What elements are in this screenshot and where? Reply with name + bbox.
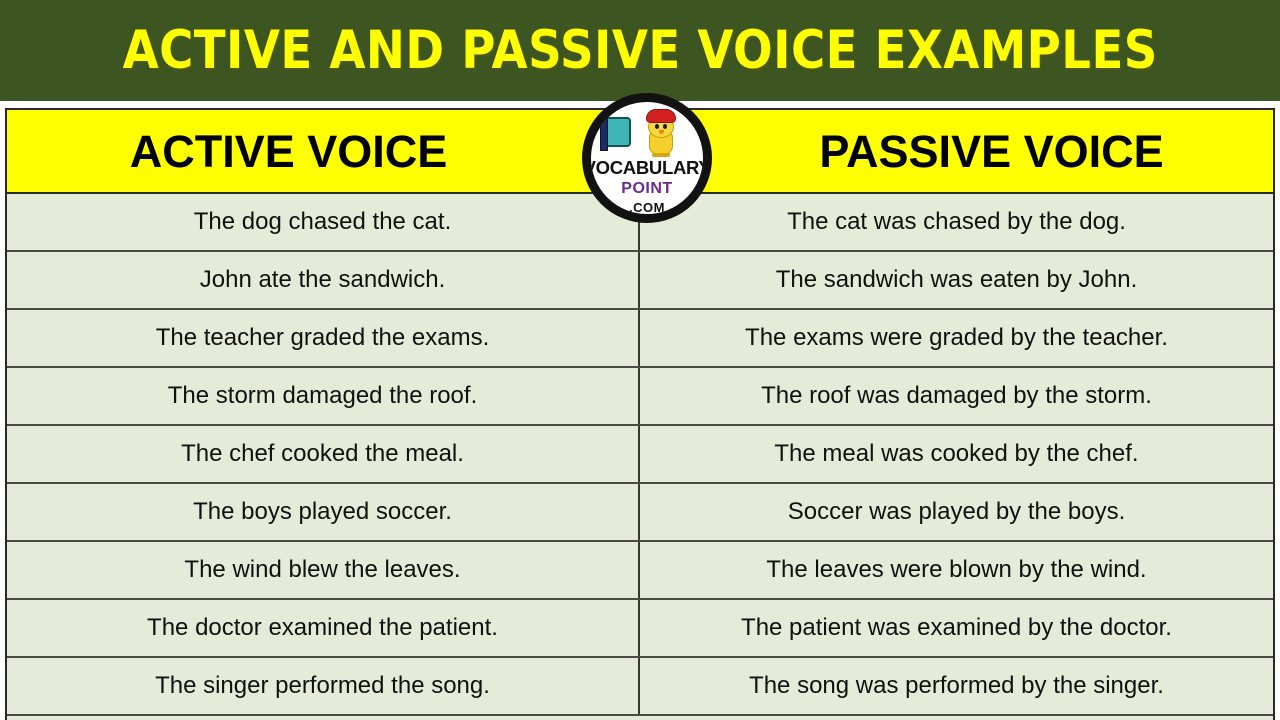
table-row: The storm damaged the roof.The roof was … <box>7 368 1273 426</box>
passive-voice-cell: Soccer was played by the boys. <box>640 484 1273 540</box>
logo-line-domain: .COM <box>629 201 665 214</box>
active-voice-cell: The chef cooked the meal. <box>7 426 640 482</box>
passive-voice-cell: The meal was cooked by the chef. <box>640 426 1273 482</box>
passive-voice-cell: The leaves were blown by the wind. <box>640 542 1273 598</box>
table-row: The wind blew the leaves.The leaves were… <box>7 542 1273 600</box>
bird-left-eye-icon <box>655 124 659 129</box>
active-voice-cell: The teacher graded the exams. <box>7 310 640 366</box>
logo-line-vocabulary: VOCABULARY <box>584 159 711 178</box>
table-row: The chef cooked the meal.The meal was co… <box>7 426 1273 484</box>
page-title: ACTIVE AND PASSIVE VOICE EXAMPLES <box>122 24 1157 77</box>
active-voice-cell: The storm damaged the roof. <box>7 368 640 424</box>
active-voice-cell: The singer performed the song. <box>7 658 640 714</box>
table-row: The teacher graded the exams.The exams w… <box>7 310 1273 368</box>
active-voice-cell: The dog chased the cat. <box>7 194 640 250</box>
bird-feet-icon <box>652 153 670 157</box>
table-row: John ate the sandwich.The sandwich was e… <box>7 252 1273 310</box>
bird-mascot-icon <box>644 109 678 157</box>
passive-voice-cell: The sandwich was eaten by John. <box>640 252 1273 308</box>
passive-voice-cell: The patient was examined by the doctor. <box>640 600 1273 656</box>
logo-artwork <box>591 103 703 157</box>
table-row: The boys played soccer.Soccer was played… <box>7 484 1273 542</box>
column-header-passive-voice: PASSIVE VOICE <box>640 110 1273 192</box>
vocabulary-point-logo: VOCABULARY POINT .COM <box>582 93 712 223</box>
active-voice-cell: John ate the sandwich. <box>7 252 640 308</box>
passive-voice-cell: The exams were graded by the teacher. <box>640 310 1273 366</box>
passive-voice-cell: The song was performed by the singer. <box>640 658 1273 714</box>
logo-line-point: POINT <box>621 181 672 197</box>
passive-voice-cell: The cat was chased by the dog. <box>640 194 1273 250</box>
beret-hat-icon <box>646 109 676 123</box>
bird-right-eye-icon <box>663 124 667 129</box>
book-icon <box>605 117 631 147</box>
column-header-active-voice: ACTIVE VOICE <box>7 110 640 192</box>
page-banner: ACTIVE AND PASSIVE VOICE EXAMPLES <box>0 0 1280 101</box>
table-row: The singer performed the song.The song w… <box>7 658 1273 716</box>
active-voice-cell: The wind blew the leaves. <box>7 542 640 598</box>
table-row: The doctor examined the patient.The pati… <box>7 600 1273 658</box>
active-voice-cell: The boys played soccer. <box>7 484 640 540</box>
table-body: The dog chased the cat.The cat was chase… <box>7 194 1273 716</box>
active-voice-cell: The doctor examined the patient. <box>7 600 640 656</box>
passive-voice-cell: The roof was damaged by the storm. <box>640 368 1273 424</box>
